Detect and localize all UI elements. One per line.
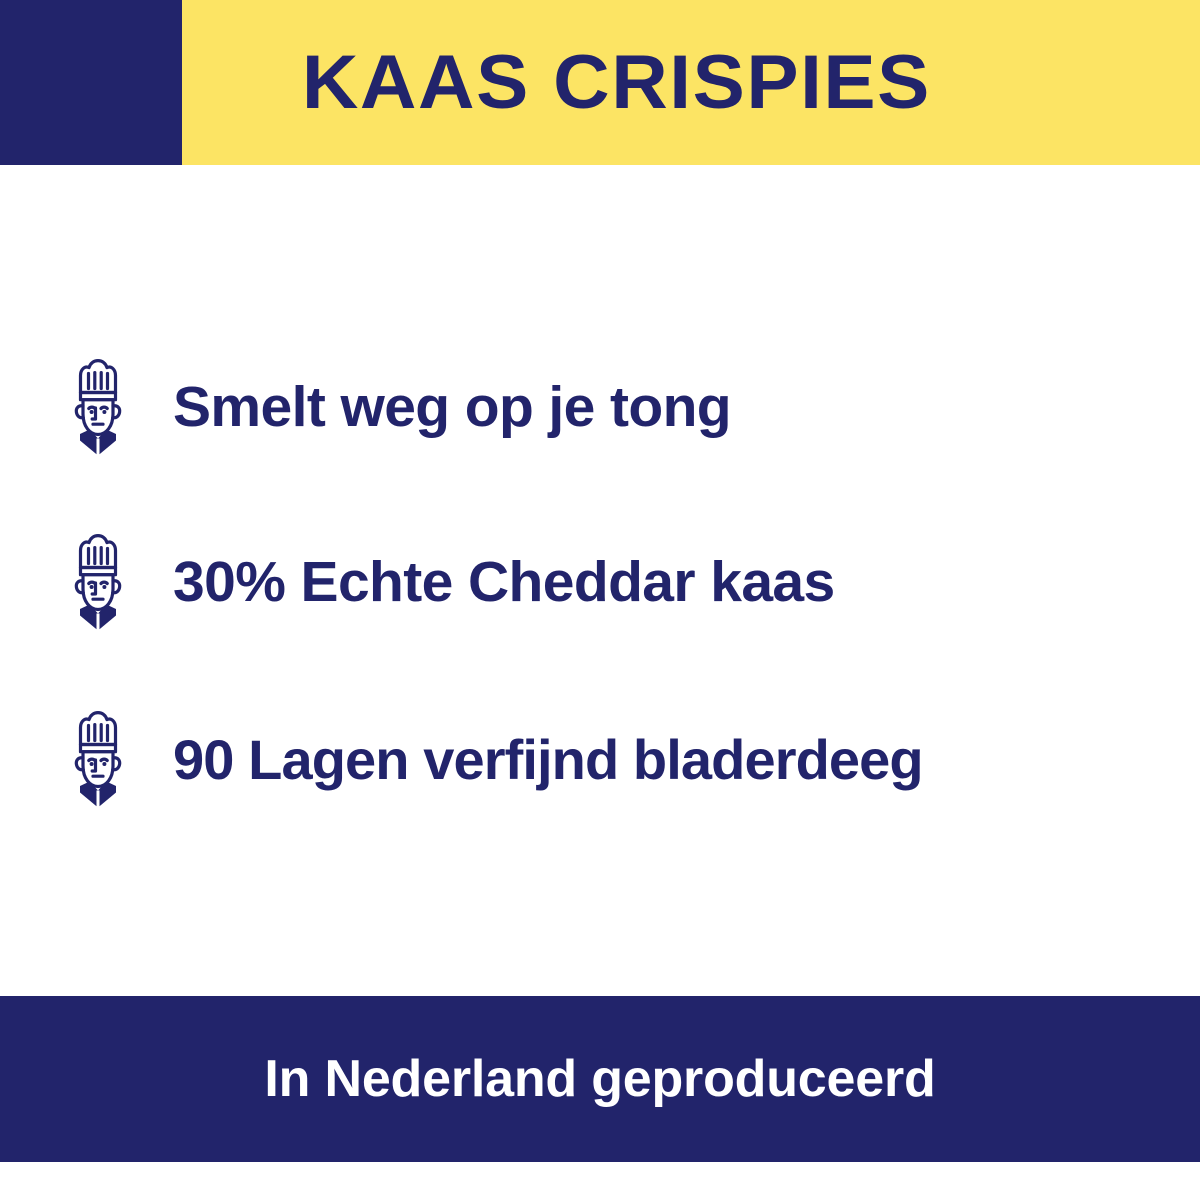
feature-item-1: Smelt weg op je tong (0, 348, 1200, 468)
chef-head-icon (67, 358, 129, 458)
feature-label: 90 Lagen verfijnd bladerdeeg (173, 731, 923, 790)
chef-head-icon (67, 710, 129, 810)
feature-label: 30% Echte Cheddar kaas (173, 553, 835, 613)
feature-item-2: 30% Echte Cheddar kaas (0, 523, 1200, 643)
product-infographic-canvas: KAAS CRISPIES (0, 0, 1200, 1200)
feature-list: Smelt weg op je tong (0, 338, 1200, 838)
footer-banner: In Nederland geproduceerd (0, 996, 1200, 1162)
feature-label: Smelt weg op je tong (173, 378, 731, 438)
chef-head-icon (67, 533, 129, 633)
feature-item-3: 90 Lagen verfijnd bladerdeeg (0, 700, 1200, 820)
header-accent-block (0, 0, 182, 165)
header-title-band: KAAS CRISPIES (182, 0, 1200, 165)
header-banner: KAAS CRISPIES (0, 0, 1200, 165)
footer-label: In Nederland geproduceerd (264, 1053, 935, 1105)
page-title: KAAS CRISPIES (301, 45, 930, 121)
